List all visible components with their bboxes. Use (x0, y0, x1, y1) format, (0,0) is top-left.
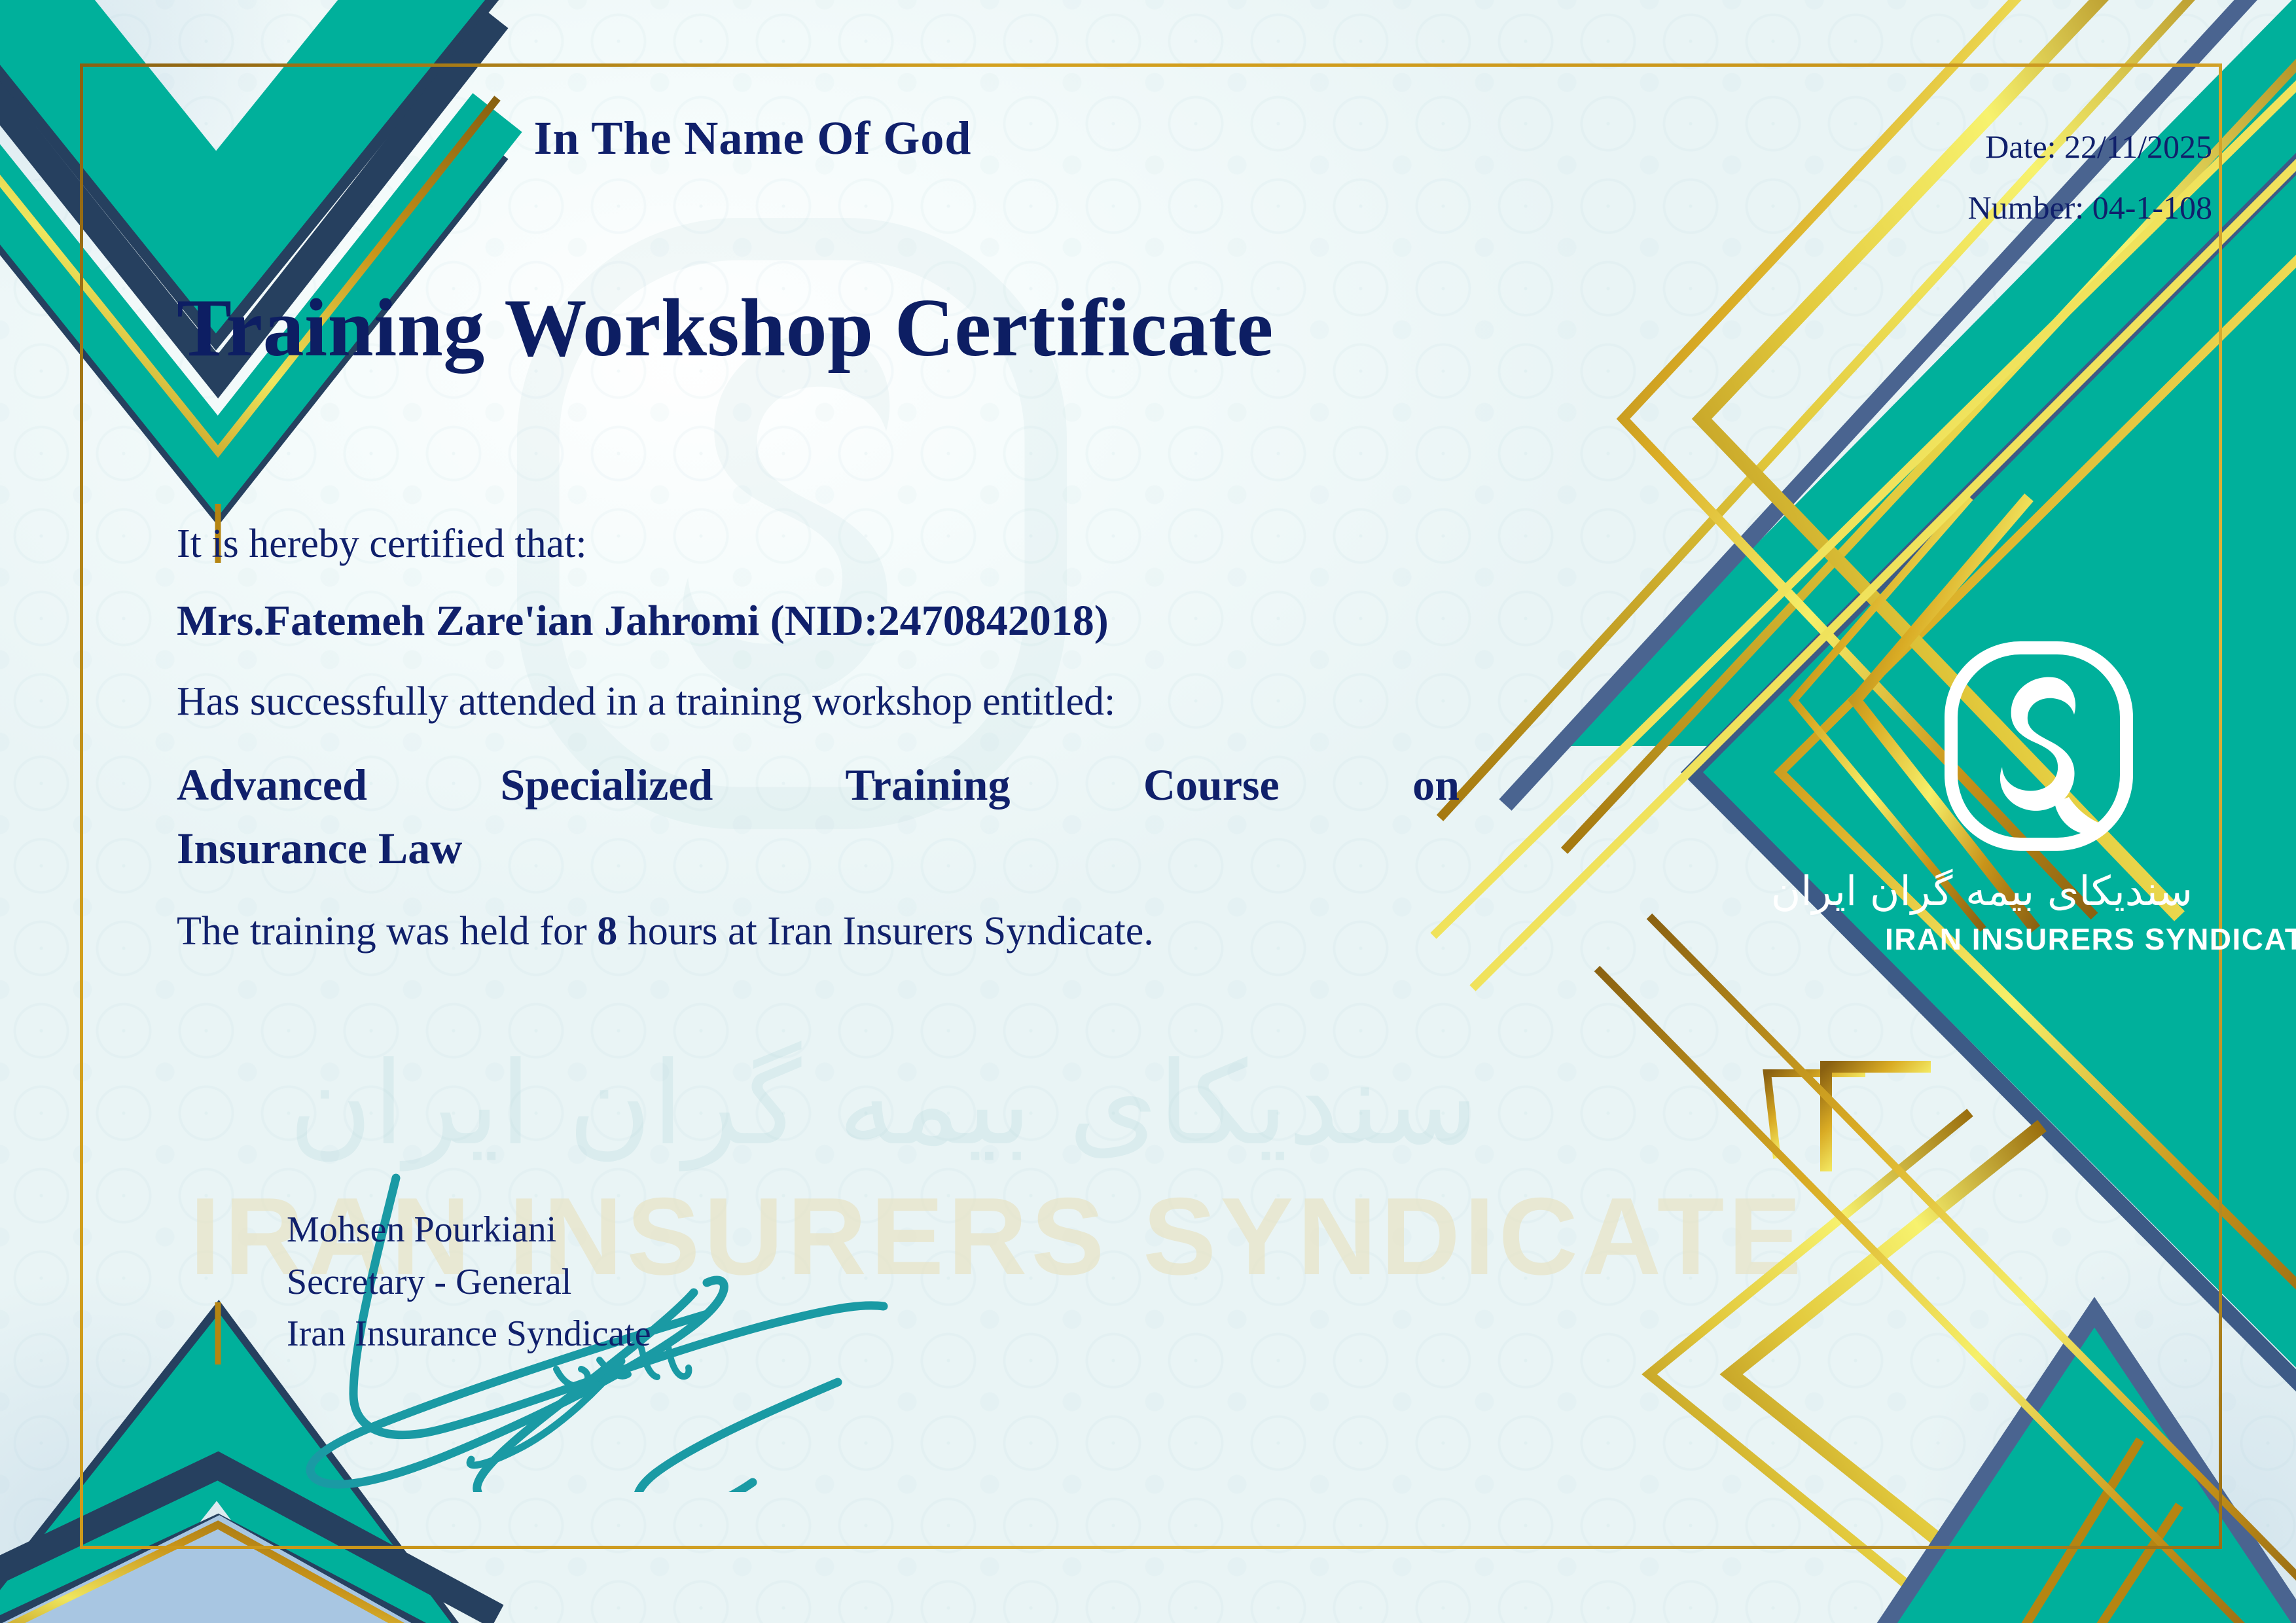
corner-triangle-bottom-right (1826, 1312, 2296, 1623)
duration-hours: 8 (597, 909, 617, 954)
page-title: Training Workshop Certificate (177, 281, 1274, 376)
gold-chevron-small-lower (1767, 1067, 1931, 1171)
certificate-page: سندیکای بیمه گران ایران IRAN INSURERS SY… (0, 0, 2296, 1623)
attended-line: Has successfully attended in a training … (177, 681, 1460, 722)
syndicate-logo-icon (1934, 641, 2144, 851)
duration-line: The training was held for 8 hours at Ira… (177, 911, 1460, 952)
gold-chevron-stack-lower (1649, 1113, 2042, 1623)
signatory-name: Mohsen Pourkiani (287, 1204, 651, 1257)
bismillah-heading: In The Name Of God (0, 111, 1505, 166)
recipient-name: Mrs.Fatemeh Zare'ian Jahromi (NID:247084… (177, 599, 1460, 643)
duration-suffix: hours at Iran Insurers Syndicate. (617, 909, 1154, 954)
certificate-body: It is hereby certified that: Mrs.Fatemeh… (177, 524, 1460, 986)
signatory-role: Secretary - General (287, 1257, 651, 1309)
course-title-line-2: Insurance Law (177, 820, 1460, 877)
watermark-persian-text: سندیکای بیمه گران ایران (196, 1047, 1571, 1162)
organization-logo-lockup: سندیکای بیمه گران ایران IRAN INSURERS SY… (1885, 641, 2193, 957)
signature-block: Mohsen Pourkiani Secretary - General Ira… (287, 1204, 651, 1361)
logo-english-name: IRAN INSURERS SYNDICATE (1885, 921, 2193, 957)
certificate-number: Number: 04-1-108 (1967, 177, 2212, 238)
certificate-meta: Date: 22/11/2025 Number: 04-1-108 (1967, 116, 2212, 238)
duration-prefix: The training was held for (177, 909, 597, 954)
logo-persian-name: سندیکای بیمه گران ایران (1885, 869, 2193, 914)
course-title-line-1: Advanced Specialized Training Course on (177, 757, 1460, 813)
certify-line: It is hereby certified that: (177, 524, 1460, 565)
signatory-organization: Iran Insurance Syndicate (287, 1308, 651, 1361)
gold-diagonals-bottom-right (1597, 916, 2296, 1623)
certificate-date: Date: 22/11/2025 (1967, 116, 2212, 177)
